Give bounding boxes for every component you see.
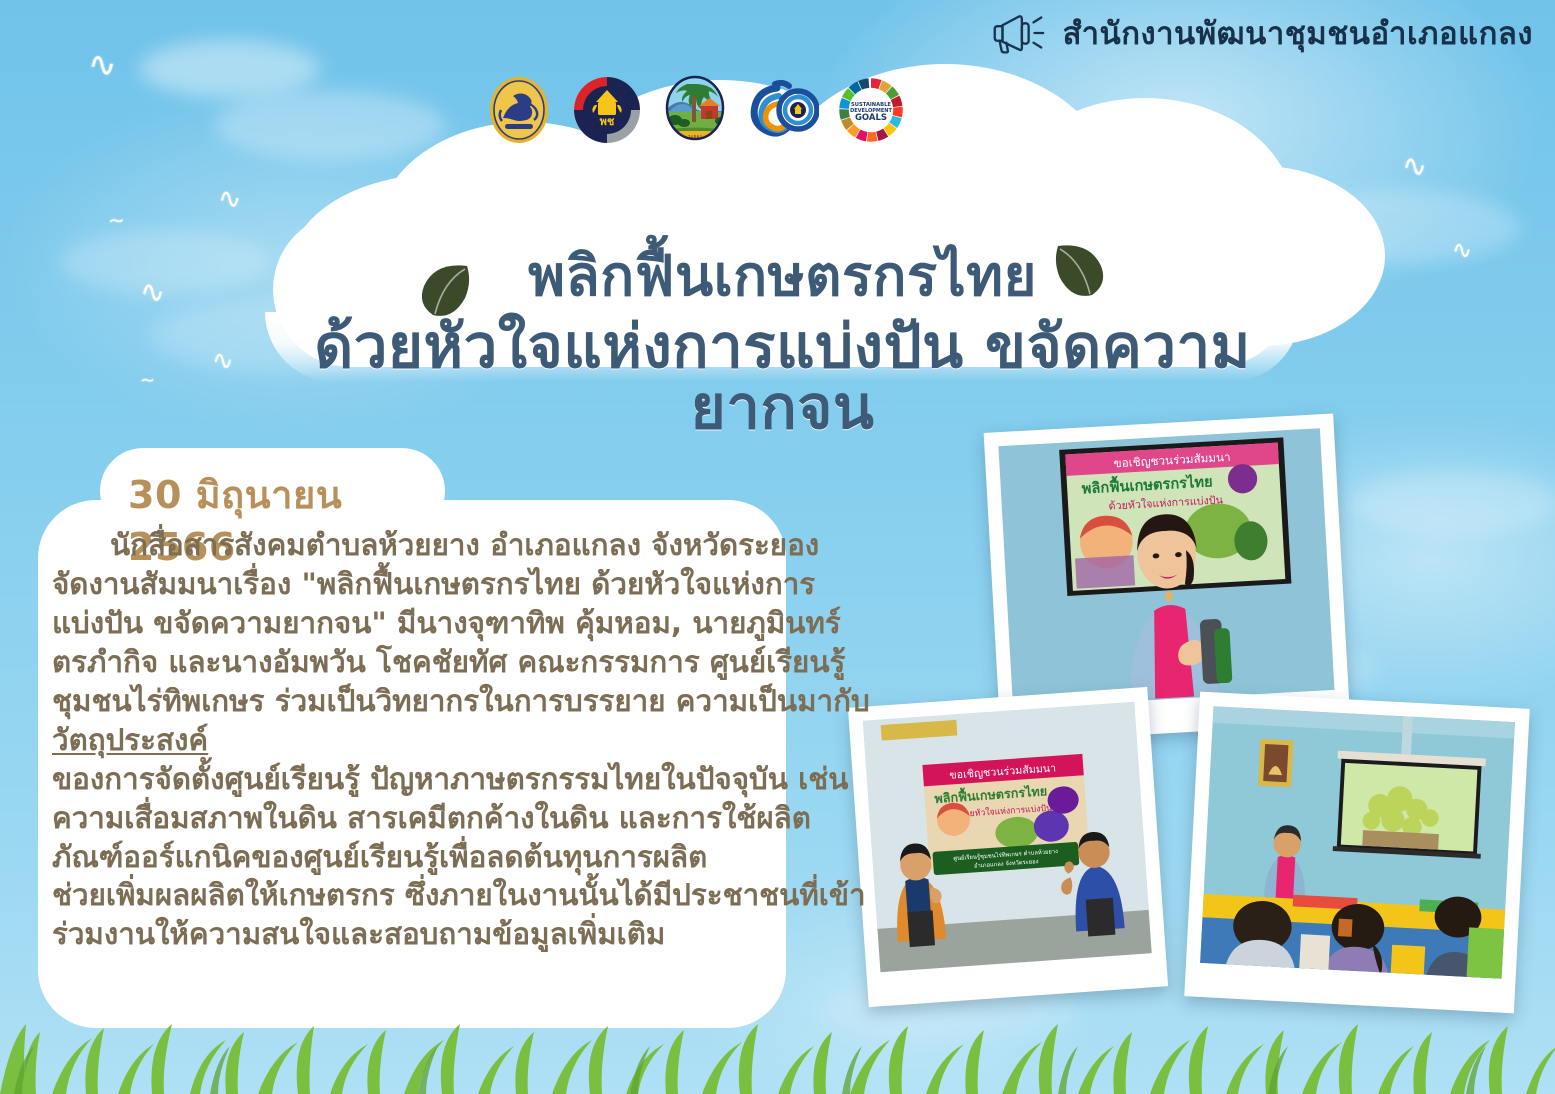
body-line: จัดงานสัมมนาเรื่อง "พลิกฟื้นเกษตรกรไทย ด… — [52, 565, 772, 604]
bird-silhouette: ∿ — [88, 48, 117, 82]
rayong-province-seal: ระยอง — [659, 74, 731, 146]
cdd-logo: พช — [571, 74, 643, 146]
banner-title: พลิกฟื้นเกษตรกรไทย ด้วยหัวใจแห่งการแบ่งป… — [255, 248, 1310, 439]
body-line: ชุมชนไร่ทิพเกษร ร่วมเป็นวิทยากรในการบรรย… — [52, 682, 772, 721]
leaf-icon — [415, 260, 475, 322]
svg-text:GOALS: GOALS — [855, 113, 887, 123]
grass-decoration — [0, 1002, 1555, 1094]
body-line: แบ่งปัน ขจัดความยากจน" มีนางจุฑาทิพ คุ้ม… — [52, 604, 772, 643]
bird-silhouette: ∿ — [1452, 238, 1472, 262]
leaf-icon — [1050, 240, 1110, 302]
photo-collage: ขอเชิญชวนร่วมสัมมนา พลิกฟื้นเกษตรกรไทย ด… — [840, 415, 1555, 1040]
poster-canvas: ∿ ∿ ∼ ∿ ∿ ∼ ∿ ∿ สำนักงานพัฒนาชุมชนอำเภอแ… — [0, 0, 1555, 1094]
svg-text:พช: พช — [600, 115, 615, 128]
article-body: นักสื่อสารสังคมตำบลห้วยยาง อำเภอแกลง จัง… — [38, 526, 786, 954]
objective-heading: วัตถุประสงค์ — [52, 721, 772, 760]
bird-silhouette: ∿ — [212, 348, 234, 374]
bird-silhouette: ∿ — [218, 185, 241, 213]
photo-two-men-banner: ขอเชิญชวนร่วมสัมมนา พลิกฟื้นเกษตรกรไทย ด… — [848, 687, 1168, 1007]
office-name: สำนักงานพัฒนาชุมชนอำเภอแกลง — [1063, 8, 1533, 58]
body-line: ช่วยเพิ่มผลผลิตให้เกษตรกร ซึ่งภายในงานนั… — [52, 876, 772, 915]
bird-silhouette: ∼ — [108, 210, 125, 230]
body-line: ของการจัดตั้งศูนย์เรียนรู้ ปัญหาภาษตรกรร… — [52, 760, 772, 799]
sdg-wheel-logo: SUSTAINABLE DEVELOPMENT GOALS — [835, 74, 907, 146]
ministry-of-interior-logo — [483, 74, 555, 146]
body-line: ความเสื่อมสภาพในดิน สารเคมีตกค้างในดิน แ… — [52, 799, 772, 838]
cloud-banner: พช — [255, 62, 1310, 362]
brand-bar: สำนักงานพัฒนาชุมชนอำเภอแกลง — [987, 8, 1533, 58]
bird-silhouette: ∿ — [140, 278, 165, 308]
logo-row: พช — [483, 74, 907, 146]
bird-silhouette: ∼ — [140, 372, 155, 390]
body-line: ตรภำกิจ และนางอัมพวัน โชคชัยทัศ คณะกรรมก… — [52, 643, 772, 682]
megaphone-icon — [987, 10, 1049, 56]
photo-speaker-thumbsup: ขอเชิญชวนร่วมสัมมนา พลิกฟื้นเกษตรกรไทย ด… — [984, 413, 1351, 742]
body-line: นักสื่อสารสังคมตำบลห้วยยาง อำเภอแกลง จัง… — [52, 526, 772, 565]
body-line: ภัณฑ์ออร์แกนิคของศูนย์เรียนรู้เพื่อลดต้น… — [52, 838, 772, 877]
anniversary-60-logo — [747, 74, 819, 146]
body-line: ร่วมงานให้ความสนใจและสอบถามข้อมูลเพิ่มเต… — [52, 915, 772, 954]
content-card: 30 มิถุนายน 2566 นักสื่อสารสังคมตำบลห้วย… — [38, 448, 786, 1028]
title-line-1: พลิกฟื้นเกษตรกรไทย — [255, 248, 1310, 305]
bird-silhouette: ∿ — [1402, 152, 1427, 182]
photo-seminar-audience — [1184, 692, 1530, 1014]
